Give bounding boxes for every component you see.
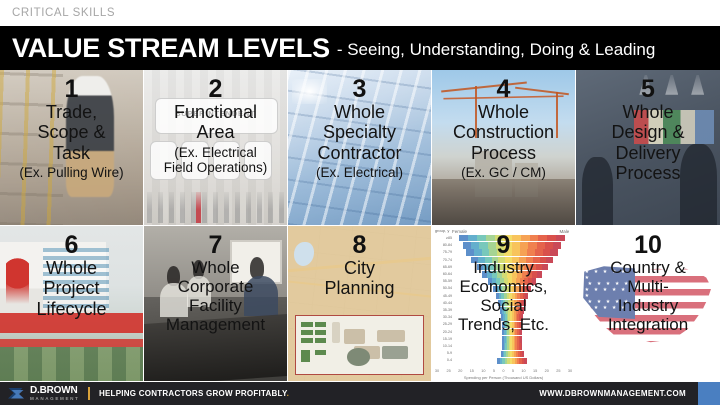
level-label: Country & Multi- Industry Integration: [605, 258, 691, 334]
page-subtitle: - Seeing, Understanding, Doing & Leading: [337, 41, 656, 58]
footer-website-url[interactable]: WWW.DBROWNMANAGEMENT.COM: [539, 389, 698, 398]
footer-accent-block: [698, 382, 720, 405]
level-sublabel-line: (Ex. Electrical: [164, 145, 268, 160]
level-label-line: Management: [166, 315, 265, 334]
level-label-line: Multi-: [608, 277, 688, 296]
level-label-line: Industry: [458, 258, 549, 277]
level-label: Industry Economics, Social Trends, Etc.: [455, 258, 552, 334]
level-label: Whole Specialty Contractor: [314, 102, 404, 162]
level-number: 2: [209, 76, 223, 102]
brand-logo[interactable]: D.BROWN MANAGEMENT: [0, 386, 79, 402]
level-label-line: Whole: [36, 258, 106, 278]
level-label-line: Delivery: [611, 143, 684, 163]
level-label-line: Trade,: [37, 102, 105, 122]
level-cell-4[interactable]: 4 Whole Construction Process (Ex. GC / C…: [432, 70, 576, 226]
level-number: 8: [353, 232, 367, 258]
footer-divider: [88, 387, 90, 400]
level-number: 1: [65, 76, 79, 102]
footer-tagline: HELPING CONTRACTORS GROW PROFITABLY.: [99, 389, 289, 398]
level-cell-8[interactable]: 8 City Planning: [288, 226, 432, 382]
level-label-line: Design &: [611, 122, 684, 142]
level-label-line: Corporate: [166, 277, 265, 296]
dbrown-logo-icon: [8, 387, 25, 401]
level-label: Whole Design & Delivery Process: [608, 102, 687, 183]
level-label-line: Scope &: [37, 122, 105, 142]
level-label: Whole Corporate Facility Management: [163, 258, 268, 334]
kicker-label: CRITICAL SKILLS: [12, 7, 115, 19]
brand-subname: MANAGEMENT: [30, 397, 79, 402]
level-sublabel: (Ex. Electrical): [314, 165, 405, 180]
level-cell-7[interactable]: 7 Whole Corporate Facility Management: [144, 226, 288, 382]
level-cell-3[interactable]: 3 Whole Specialty Contractor (Ex. Electr…: [288, 70, 432, 226]
level-label-line: Construction: [453, 122, 554, 142]
page-title: VALUE STREAM LEVELS: [12, 35, 330, 62]
level-label-line: Project: [36, 278, 106, 298]
level-label-line: Whole: [317, 102, 401, 122]
level-number: 7: [209, 232, 223, 258]
level-label-line: Country &: [608, 258, 688, 277]
level-label-line: Process: [453, 143, 554, 163]
level-label-line: Economics,: [458, 277, 549, 296]
level-label-line: Whole: [611, 102, 684, 122]
level-number: 3: [353, 76, 367, 102]
level-sublabel: (Ex. Pulling Wire): [17, 165, 125, 180]
level-label-line: Planning: [324, 278, 394, 298]
title-bar: VALUE STREAM LEVELS - Seeing, Understand…: [0, 26, 720, 70]
level-number: 5: [641, 76, 655, 102]
level-cell-6[interactable]: 6 Whole Project Lifecycle: [0, 226, 144, 382]
level-label-line: Functional: [174, 102, 257, 122]
level-cell-10[interactable]: ★ ★ ★ ★ ★ ★ ★ ★ ★ ★ ★ ★ ★ ★ ★ ★ ★ ★ ★ ★ …: [576, 226, 720, 382]
level-number: 10: [634, 232, 662, 258]
level-number: 9: [497, 232, 511, 258]
level-label: Whole Project Lifecycle: [33, 258, 109, 318]
level-label-line: Integration: [608, 315, 688, 334]
level-label-line: Lifecycle: [36, 299, 106, 319]
level-label-line: City: [324, 258, 394, 278]
kicker-bar: CRITICAL SKILLS: [0, 0, 720, 26]
level-label-line: Contractor: [317, 143, 401, 163]
footer-tagline-text: HELPING CONTRACTORS GROW PROFITABLY: [99, 389, 287, 398]
level-number: 4: [497, 76, 511, 102]
value-stream-levels-grid: 1 Trade, Scope & Task (Ex. Pulling Wire)…: [0, 70, 720, 382]
level-cell-1[interactable]: 1 Trade, Scope & Task (Ex. Pulling Wire): [0, 70, 144, 226]
level-sublabel-line: Field Operations): [164, 160, 268, 175]
level-label-line: Social: [458, 296, 549, 315]
level-label: Trade, Scope & Task: [34, 102, 108, 162]
level-cell-2[interactable]: SUPERINTENDENT 2 Functional Area (Ex. El…: [144, 70, 288, 226]
level-label-line: Process: [611, 163, 684, 183]
level-label-line: Area: [174, 122, 257, 142]
level-sublabel: (Ex. Electrical Field Operations): [162, 145, 270, 176]
level-cell-9[interactable]: Female Male group, y ≥8580-8475-7970-746…: [432, 226, 576, 382]
footer-bar: D.BROWN MANAGEMENT HELPING CONTRACTORS G…: [0, 382, 720, 405]
level-label-line: Whole: [166, 258, 265, 277]
level-label: Whole Construction Process: [450, 102, 557, 162]
level-label: Functional Area: [171, 102, 260, 142]
level-number: 6: [65, 232, 79, 258]
level-label-line: Facility: [166, 296, 265, 315]
level-label: City Planning: [321, 258, 397, 298]
brand-name: D.BROWN: [30, 386, 79, 396]
level-sublabel: (Ex. GC / CM): [459, 165, 548, 180]
level-label-line: Trends, Etc.: [458, 315, 549, 334]
level-cell-5[interactable]: 5 Whole Design & Delivery Process: [576, 70, 720, 226]
level-label-line: Specialty: [317, 122, 401, 142]
footer-tagline-dot: .: [287, 389, 289, 398]
level-label-line: Task: [37, 143, 105, 163]
level-label-line: Industry: [608, 296, 688, 315]
level-label-line: Whole: [453, 102, 554, 122]
